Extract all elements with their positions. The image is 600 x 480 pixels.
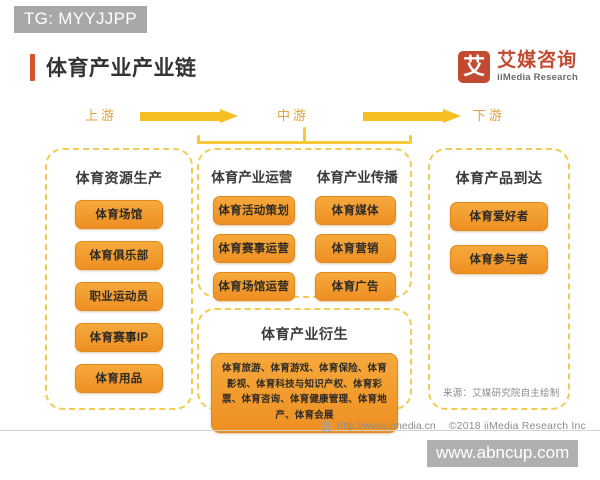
- panel-communication-items: 体育媒体 体育营销 体育广告: [305, 196, 397, 310]
- brace-tip-left: [197, 135, 200, 144]
- panel-downstream-heading: 体育产品到达: [430, 168, 568, 188]
- panel-downstream: 体育产品到达 体育爱好者 体育参与者: [428, 148, 570, 410]
- list-item[interactable]: 职业运动员: [75, 282, 163, 311]
- logo-name-en: iiMedia Research: [497, 72, 578, 83]
- flow-label-upstream: 上游: [85, 105, 117, 124]
- list-item[interactable]: 体育爱好者: [450, 202, 548, 231]
- panel-communication-heading: 体育产业传播: [305, 166, 411, 186]
- arrow-upstream-to-midstream-icon: [140, 109, 238, 123]
- logo-name-cn: 艾媒咨询: [497, 51, 578, 71]
- list-item[interactable]: 体育俱乐部: [75, 241, 163, 270]
- tg-overlay-label: TG: MYYJJPP: [14, 6, 147, 33]
- list-item[interactable]: 体育赛事IP: [75, 323, 163, 352]
- brace-bar: [197, 141, 412, 144]
- panel-midstream-main: 体育产业运营 体育产业传播 体育活动策划 体育赛事运营 体育场馆运营 体育媒体 …: [197, 148, 412, 298]
- panel-derivative-heading: 体育产业衍生: [199, 324, 410, 344]
- arrow-shaft: [363, 112, 443, 121]
- flow-label-downstream: 下游: [473, 105, 505, 124]
- brand-logo: 艾 艾媒咨询 iiMedia Research: [458, 51, 578, 83]
- watermark-label: www.abncup.com: [427, 440, 578, 467]
- footer-bar: http://www.iimedia.cn ©2018 iiMedia Rese…: [321, 420, 586, 432]
- title-text: 体育产业产业链: [46, 52, 197, 82]
- title-accent-bar: [30, 54, 35, 81]
- logo-mark-icon: 艾: [458, 51, 490, 83]
- source-note: 来源：艾媒研究院自主绘制: [443, 385, 559, 399]
- midstream-columns: 体育活动策划 体育赛事运营 体育场馆运营 体育媒体 体育营销 体育广告: [199, 196, 410, 310]
- panel-operation-heading: 体育产业运营: [199, 166, 305, 186]
- list-item[interactable]: 体育用品: [75, 364, 163, 393]
- list-item[interactable]: 体育参与者: [450, 245, 548, 274]
- list-item[interactable]: 体育活动策划: [213, 196, 295, 225]
- flow-stage-row: 上游 中游 下游: [0, 103, 600, 127]
- panel-upstream-heading: 体育资源生产: [47, 168, 191, 188]
- arrow-head: [220, 109, 238, 123]
- footer-copyright: ©2018 iiMedia Research Inc: [449, 420, 586, 432]
- brace-tip-right: [409, 135, 412, 144]
- list-item[interactable]: 体育营销: [315, 234, 397, 263]
- list-item[interactable]: 体育赛事运营: [213, 234, 295, 263]
- list-item[interactable]: 体育场馆: [75, 200, 163, 229]
- list-item[interactable]: 体育场馆运营: [213, 272, 295, 301]
- logo-wordmark: 艾媒咨询 iiMedia Research: [497, 51, 578, 83]
- list-item[interactable]: 体育广告: [315, 272, 397, 301]
- panel-upstream: 体育资源生产 体育场馆 体育俱乐部 职业运动员 体育赛事IP 体育用品: [45, 148, 193, 410]
- panel-upstream-items: 体育场馆 体育俱乐部 职业运动员 体育赛事IP 体育用品: [75, 200, 163, 393]
- panel-derivative: 体育产业衍生 体育旅游、体育游戏、体育保险、体育影视、体育科技与知识产权、体育彩…: [197, 308, 412, 410]
- arrow-midstream-to-downstream-icon: [363, 109, 461, 123]
- arrow-shaft: [140, 112, 220, 121]
- midstream-brace-icon: [197, 128, 412, 144]
- footer-url[interactable]: http://www.iimedia.cn: [337, 420, 436, 432]
- list-item[interactable]: 体育媒体: [315, 196, 397, 225]
- globe-icon: [321, 421, 332, 432]
- page-title: 体育产业产业链: [30, 52, 197, 82]
- flow-label-midstream: 中游: [277, 105, 309, 124]
- panel-operation-items: 体育活动策划 体育赛事运营 体育场馆运营: [213, 196, 305, 310]
- brace-stem: [303, 127, 306, 142]
- arrow-head: [443, 109, 461, 123]
- panel-downstream-items: 体育爱好者 体育参与者: [450, 202, 548, 274]
- midstream-column-headings: 体育产业运营 体育产业传播: [199, 166, 410, 186]
